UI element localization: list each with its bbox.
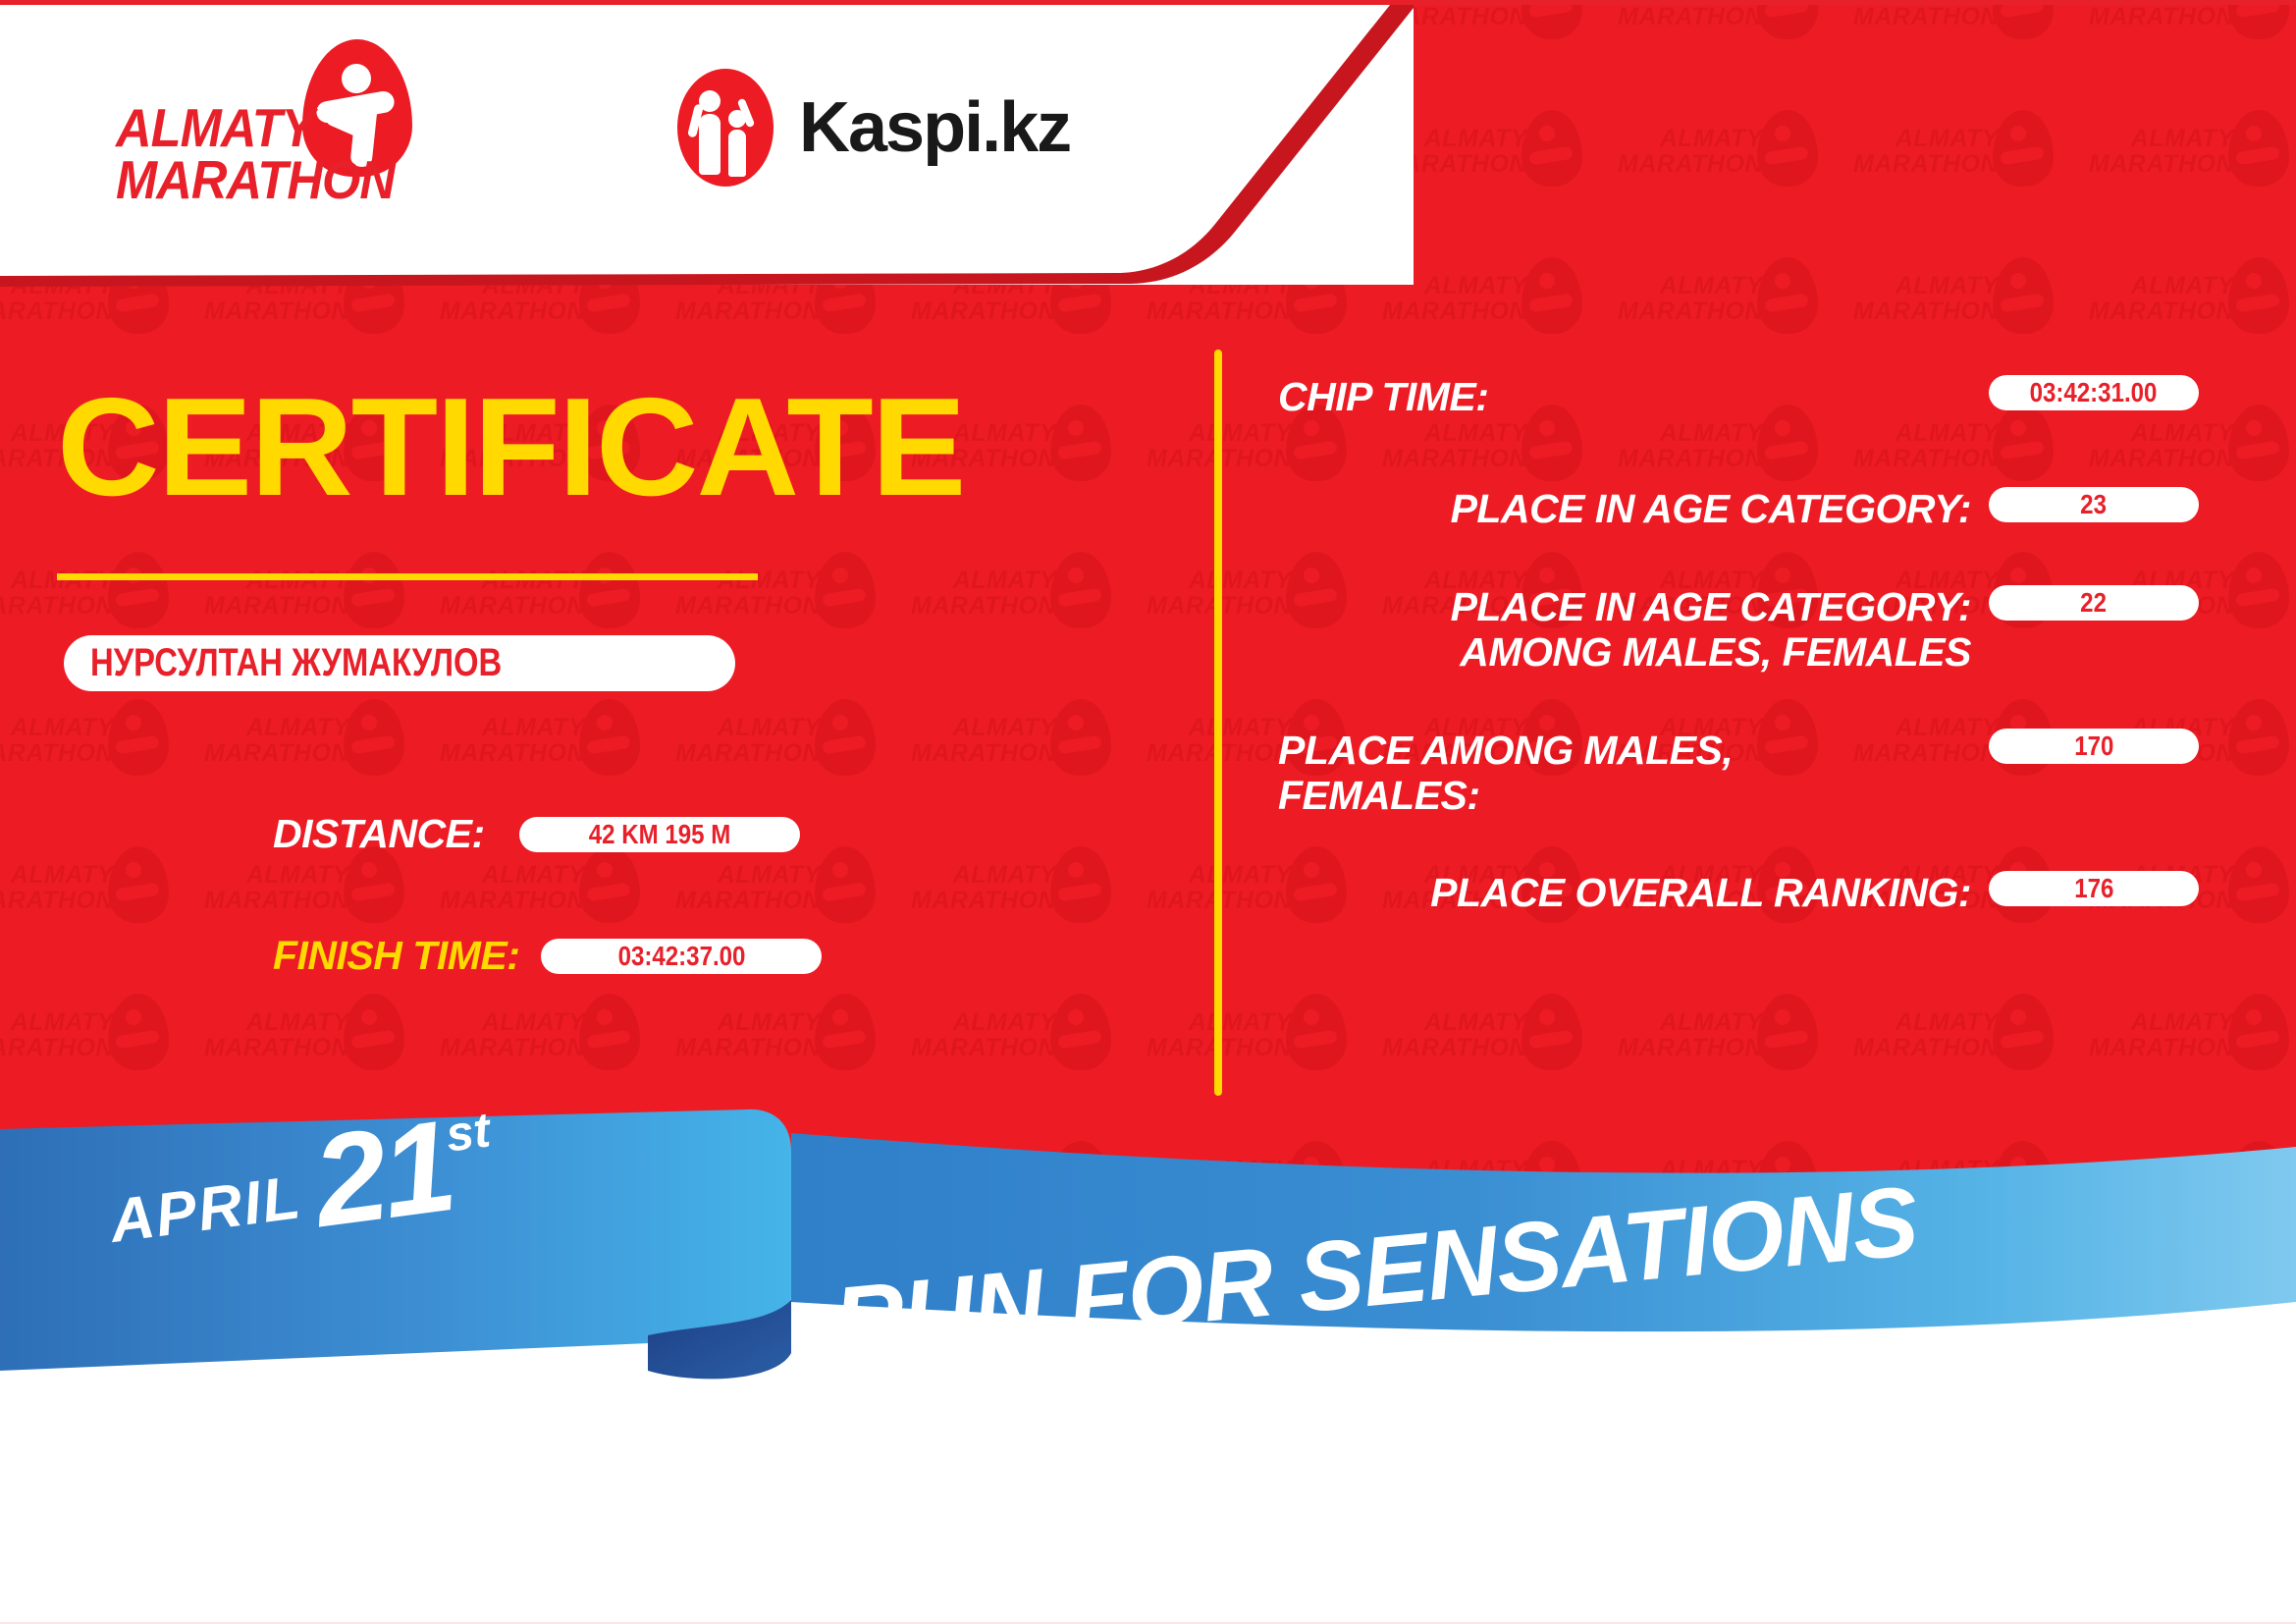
watermark-runner-drop-icon <box>1993 994 2054 1070</box>
place-age-category-gender-value: 22 <box>2081 587 2108 619</box>
kaspi-logo: Kaspi.kz <box>677 69 1070 187</box>
certificate-header: ALMATY MARATHON Kaspi.kz <box>0 0 1414 285</box>
place-age-category-gender-value-pill: 22 <box>1989 585 2199 621</box>
watermark-runner-drop-icon <box>344 846 404 923</box>
watermark-runner-drop-icon <box>108 994 169 1070</box>
metric-row-distance: DISTANCE: 42 KM 195 M <box>273 811 800 857</box>
title-underline-rule <box>57 573 758 580</box>
place-age-category-gender-label: PLACE IN AGE CATEGORY: AMONG MALES, FEMA… <box>1276 583 1989 676</box>
watermark-text: ALMATYMARATHON <box>177 715 349 767</box>
almaty-marathon-logo: ALMATY MARATHON <box>116 47 420 224</box>
watermark-text: ALMATYMARATHON <box>0 715 114 767</box>
watermark-runner-drop-icon <box>1522 110 1582 187</box>
label-line-1: PLACE IN AGE CATEGORY: <box>1276 585 1971 630</box>
watermark-runner-drop-icon <box>2228 257 2289 334</box>
watermark-tile: ALMATYMARATHON <box>883 844 1119 992</box>
place-age-category-label: PLACE IN AGE CATEGORY: <box>1276 485 1989 532</box>
watermark-runner-drop-icon <box>1050 552 1111 628</box>
watermark-text: ALMATYMARATHON <box>412 862 585 914</box>
chip-time-value: 03:42:31.00 <box>2030 377 2158 408</box>
watermark-runner-drop-icon <box>579 552 640 628</box>
metric-row-place-age-category: PLACE IN AGE CATEGORY: 23 <box>1276 485 2199 532</box>
watermark-text: ALMATYMARATHON <box>2061 0 2234 30</box>
watermark-runner-drop-icon <box>1050 405 1111 481</box>
watermark-text: ALMATYMARATHON <box>412 715 585 767</box>
watermark-tile: ALMATYMARATHON <box>2061 0 2296 108</box>
place-overall-value: 176 <box>2074 873 2113 904</box>
watermark-text: ALMATYMARATHON <box>1590 126 1763 178</box>
place-overall-value-pill: 176 <box>1989 871 2199 906</box>
watermark-text: ALMATYMARATHON <box>648 1009 821 1061</box>
watermark-tile: ALMATYMARATHON <box>0 697 177 844</box>
ribbon-day-suffix: st <box>443 1101 494 1163</box>
metric-row-chip-time: CHIP TIME: 03:42:31.00 <box>1276 373 2199 420</box>
watermark-text: ALMATYMARATHON <box>1590 273 1763 325</box>
watermark-runner-drop-icon <box>1522 0 1582 39</box>
ribbon-day: 21 <box>308 1112 457 1235</box>
distance-value-pill: 42 KM 195 M <box>519 817 800 852</box>
place-age-category-value-pill: 23 <box>1989 487 2199 522</box>
watermark-text: ALMATYMARATHON <box>1590 1009 1763 1061</box>
watermark-tile: ALMATYMARATHON <box>883 550 1119 697</box>
watermark-runner-drop-icon <box>1757 0 1818 39</box>
header-logos: ALMATY MARATHON Kaspi.kz <box>0 0 1129 275</box>
watermark-runner-drop-icon <box>2228 110 2289 187</box>
watermark-runner-drop-icon <box>579 846 640 923</box>
chip-time-label: CHIP TIME: <box>1276 373 1989 420</box>
label-line-1: PLACE AMONG MALES, <box>1278 729 1971 774</box>
watermark-runner-drop-icon <box>1050 846 1111 923</box>
watermark-runner-drop-icon <box>815 552 876 628</box>
watermark-text: ALMATYMARATHON <box>1590 0 1763 30</box>
chip-time-value-pill: 03:42:31.00 <box>1989 375 2199 410</box>
place-among-gender-value-pill: 170 <box>1989 729 2199 764</box>
place-among-gender-value: 170 <box>2074 731 2113 762</box>
results-column: CHIP TIME: 03:42:31.00 PLACE IN AGE CATE… <box>1276 373 2199 949</box>
watermark-text: ALMATYMARATHON <box>0 862 114 914</box>
watermark-text: ALMATYMARATHON <box>1119 420 1292 472</box>
logo-line-almaty: ALMATY <box>116 102 395 154</box>
watermark-text: ALMATYMARATHON <box>1826 0 1999 30</box>
watermark-text: ALMATYMARATHON <box>1119 1009 1292 1061</box>
watermark-tile: ALMATYMARATHON <box>1590 0 1826 108</box>
watermark-runner-drop-icon <box>344 994 404 1070</box>
watermark-runner-drop-icon <box>2228 846 2289 923</box>
watermark-runner-drop-icon <box>815 846 876 923</box>
watermark-text: ALMATYMARATHON <box>177 862 349 914</box>
watermark-text: ALMATYMARATHON <box>412 1009 585 1061</box>
watermark-runner-drop-icon <box>1993 110 2054 187</box>
distance-label: DISTANCE: <box>273 811 485 857</box>
metric-row-place-age-category-gender: PLACE IN AGE CATEGORY: AMONG MALES, FEMA… <box>1276 583 2199 676</box>
watermark-runner-drop-icon <box>1286 994 1347 1070</box>
finish-time-value-pill: 03:42:37.00 <box>541 939 822 974</box>
watermark-runner-drop-icon <box>579 994 640 1070</box>
watermark-runner-drop-icon <box>344 552 404 628</box>
watermark-text: ALMATYMARATHON <box>1826 1009 1999 1061</box>
watermark-tile: ALMATYMARATHON <box>2061 108 2296 255</box>
finish-time-label: FINISH TIME: <box>273 933 519 979</box>
watermark-text: ALMATYMARATHON <box>1119 862 1292 914</box>
place-overall-label: PLACE OVERALL RANKING: <box>1276 869 1989 916</box>
watermark-runner-drop-icon <box>2228 552 2289 628</box>
watermark-text: ALMATYMARATHON <box>1355 1009 1527 1061</box>
logo-line-marathon: MARATHON <box>116 154 395 206</box>
almaty-marathon-wordmark: ALMATY MARATHON <box>116 102 395 206</box>
watermark-runner-drop-icon <box>1522 994 1582 1070</box>
watermark-text: ALMATYMARATHON <box>883 715 1056 767</box>
sponsor-strip: Sulpak SANOFI Empowering Life ORIFLAME S… <box>0 1414 2296 1610</box>
vertical-divider <box>1214 350 1222 1096</box>
watermark-runner-drop-icon <box>815 699 876 776</box>
watermark-tile: ALMATYMARATHON <box>1590 108 1826 255</box>
participant-name-value: НУРСУЛТАН ЖУМАКУЛОВ <box>64 641 502 685</box>
certificate-page: ALMATYMARATHONALMATYMARATHONALMATYMARATH… <box>0 0 2296 1624</box>
watermark-runner-drop-icon <box>2228 405 2289 481</box>
watermark-tile: ALMATYMARATHON <box>883 697 1119 844</box>
page-title: CERTIFICATE <box>57 378 964 517</box>
watermark-tile: ALMATYMARATHON <box>1826 108 2061 255</box>
label-line-2: FEMALES: <box>1278 774 1971 819</box>
watermark-runner-drop-icon <box>1757 110 1818 187</box>
watermark-runner-drop-icon <box>1522 257 1582 334</box>
watermark-runner-drop-icon <box>2228 699 2289 776</box>
participant-name-field: НУРСУЛТАН ЖУМАКУЛОВ <box>64 635 735 691</box>
watermark-text: ALMATYMARATHON <box>1826 126 1999 178</box>
watermark-runner-drop-icon <box>108 846 169 923</box>
watermark-runner-drop-icon <box>2228 0 2289 39</box>
watermark-text: ALMATYMARATHON <box>648 862 821 914</box>
watermark-text: ALMATYMARATHON <box>883 568 1056 620</box>
watermark-text: ALMATYMARATHON <box>883 862 1056 914</box>
watermark-text: ALMATYMARATHON <box>2061 273 2234 325</box>
place-age-category-value: 23 <box>2081 489 2108 520</box>
watermark-text: ALMATYMARATHON <box>883 1009 1056 1061</box>
watermark-runner-drop-icon <box>1993 257 2054 334</box>
watermark-text: ALMATYMARATHON <box>2061 126 2234 178</box>
watermark-runner-drop-icon <box>1993 0 2054 39</box>
watermark-tile: ALMATYMARATHON <box>0 844 177 992</box>
watermark-runner-drop-icon <box>1757 994 1818 1070</box>
kaspi-people-icon <box>677 69 774 187</box>
watermark-runner-drop-icon <box>344 699 404 776</box>
place-among-gender-label: PLACE AMONG MALES, FEMALES: <box>1276 727 1989 819</box>
watermark-text: ALMATYMARATHON <box>1119 715 1292 767</box>
kaspi-wordmark: Kaspi.kz <box>799 87 1070 168</box>
watermark-runner-drop-icon <box>1050 994 1111 1070</box>
watermark-runner-drop-icon <box>815 994 876 1070</box>
finish-time-value: 03:42:37.00 <box>617 941 745 972</box>
metric-row-place-overall: PLACE OVERALL RANKING: 176 <box>1276 869 2199 916</box>
watermark-runner-drop-icon <box>579 699 640 776</box>
metric-row-place-among-gender: PLACE AMONG MALES, FEMALES: 170 <box>1276 727 2199 819</box>
watermark-text: ALMATYMARATHON <box>648 715 821 767</box>
watermark-runner-drop-icon <box>108 699 169 776</box>
watermark-runner-drop-icon <box>108 552 169 628</box>
watermark-tile: ALMATYMARATHON <box>1826 0 2061 108</box>
watermark-runner-drop-icon <box>1757 257 1818 334</box>
watermark-runner-drop-icon <box>1050 699 1111 776</box>
watermark-text: ALMATYMARATHON <box>0 1009 114 1061</box>
watermark-text: ALMATYMARATHON <box>177 1009 349 1061</box>
distance-value: 42 KM 195 M <box>588 819 730 850</box>
label-line-2: AMONG MALES, FEMALES <box>1276 630 1971 676</box>
watermark-text: ALMATYMARATHON <box>2061 1009 2234 1061</box>
watermark-text: ALMATYMARATHON <box>1826 273 1999 325</box>
metric-row-finish-time: FINISH TIME: 03:42:37.00 <box>273 933 822 979</box>
watermark-text: ALMATYMARATHON <box>1119 568 1292 620</box>
watermark-runner-drop-icon <box>2228 994 2289 1070</box>
